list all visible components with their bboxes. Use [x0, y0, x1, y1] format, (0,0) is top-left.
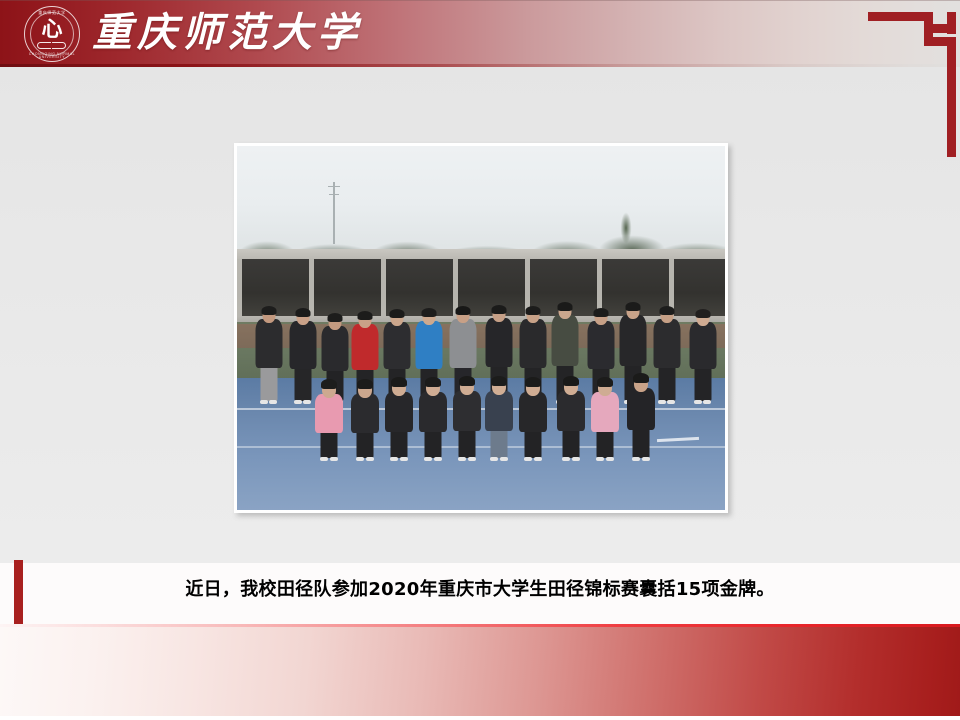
- photo-person-hair: [357, 311, 372, 320]
- photo-person-hair: [695, 309, 710, 318]
- photo-person-hair: [327, 313, 342, 322]
- photo-person-jacket: [453, 391, 481, 431]
- slide-caption: 近日，我校田径队参加2020年重庆市大学生田径锦标赛囊括15项金牌。: [0, 575, 960, 601]
- photo-person-jacket: [419, 392, 447, 432]
- photo-person-hair: [597, 377, 613, 387]
- photo-person-hair: [391, 377, 407, 387]
- photo-person-hair: [389, 309, 404, 318]
- photo-person-shoe-right: [500, 457, 508, 461]
- photo-person-jacket: [591, 392, 619, 432]
- photo-person-shoe-right: [468, 457, 476, 461]
- seal-arc-text-chinese: 重庆师范大学: [24, 11, 80, 15]
- ornament-knot-segment-c: [947, 12, 956, 34]
- photo-person-hair: [491, 376, 507, 386]
- photo-person-shoe-right: [330, 457, 338, 461]
- photo-person: [385, 375, 413, 461]
- photo-person-shoe-right: [606, 457, 614, 461]
- photo-person-hair: [625, 302, 640, 311]
- photo-person: [351, 377, 379, 461]
- photo-person: [627, 369, 655, 461]
- photo-person-shoe-left: [632, 457, 640, 461]
- photo-person-shoe-right: [642, 457, 650, 461]
- photo-person-hair: [659, 306, 674, 315]
- photo-person-jacket: [557, 391, 585, 431]
- presentation-slide: 重庆师范大学 心 CHONGQING NORMAL UNIVERSITY 重庆师…: [0, 0, 960, 720]
- photo-person-jacket: [351, 394, 379, 433]
- photo-person-hair: [357, 379, 373, 389]
- photo-person-hair: [261, 306, 276, 315]
- photo-person-shoe-left: [424, 457, 432, 461]
- header-underline: [0, 64, 960, 67]
- photo-person-hair: [295, 308, 310, 317]
- photo-person-hair: [491, 305, 506, 314]
- photo-people-front-row: [237, 351, 725, 461]
- photo-person: [591, 375, 619, 461]
- photo-person-shoe-left: [458, 457, 466, 461]
- photo-person-shoe-right: [534, 457, 542, 461]
- photo-tall-tree: [619, 208, 633, 246]
- photo-person-hair: [321, 379, 337, 389]
- photo-person-shoe-right: [366, 457, 374, 461]
- photo-person: [485, 373, 513, 461]
- photo-person: [453, 373, 481, 461]
- ornament-bar-vertical: [947, 37, 956, 157]
- photo-person-jacket: [519, 392, 547, 432]
- photo-person-shoe-right: [400, 457, 408, 461]
- photo-person: [557, 373, 585, 461]
- photo-person-shoe-right: [572, 457, 580, 461]
- photo-person-hair: [563, 376, 579, 386]
- page-title: 重庆师范大学: [92, 8, 362, 58]
- photo-person-hair: [421, 308, 436, 317]
- seal-arc-text-english: CHONGQING NORMAL UNIVERSITY: [24, 53, 80, 60]
- team-group-photo: [237, 146, 725, 510]
- header-top-hairline: [0, 0, 960, 1]
- photo-person-hair: [633, 373, 649, 383]
- photo-person-hair: [557, 302, 572, 311]
- ornament-bar-horizontal: [868, 12, 932, 21]
- photo-person-shoe-right: [434, 457, 442, 461]
- photo-person-hair: [455, 306, 470, 315]
- photo-person-jacket: [485, 391, 513, 431]
- photo-person-jacket: [385, 392, 413, 432]
- photo-person-shoe-left: [562, 457, 570, 461]
- footer-baseline: [0, 716, 960, 720]
- seal-center-glyph: 心: [24, 19, 80, 40]
- photo-person-hair: [459, 376, 475, 386]
- photo-person-hair: [593, 308, 608, 317]
- photo-person: [315, 377, 343, 461]
- university-seal-logo: 重庆师范大学 心 CHONGQING NORMAL UNIVERSITY: [24, 6, 82, 64]
- footer-gradient-band: [0, 627, 960, 716]
- photo-person-hair: [525, 377, 541, 387]
- photo-person-shoe-left: [524, 457, 532, 461]
- photo-person-hair: [525, 306, 540, 315]
- photo-person-jacket: [627, 388, 655, 430]
- photo-person-jacket: [315, 394, 343, 433]
- photo-person: [519, 375, 547, 461]
- seal-open-book-icon: [37, 42, 67, 50]
- photo-person-shoe-left: [356, 457, 364, 461]
- photo-person-shoe-left: [490, 457, 498, 461]
- photo-person-shoe-left: [390, 457, 398, 461]
- photo-person-shoe-left: [320, 457, 328, 461]
- photo-person: [419, 375, 447, 461]
- photo-frame: [234, 143, 728, 513]
- photo-person-hair: [425, 377, 441, 387]
- photo-person-shoe-left: [596, 457, 604, 461]
